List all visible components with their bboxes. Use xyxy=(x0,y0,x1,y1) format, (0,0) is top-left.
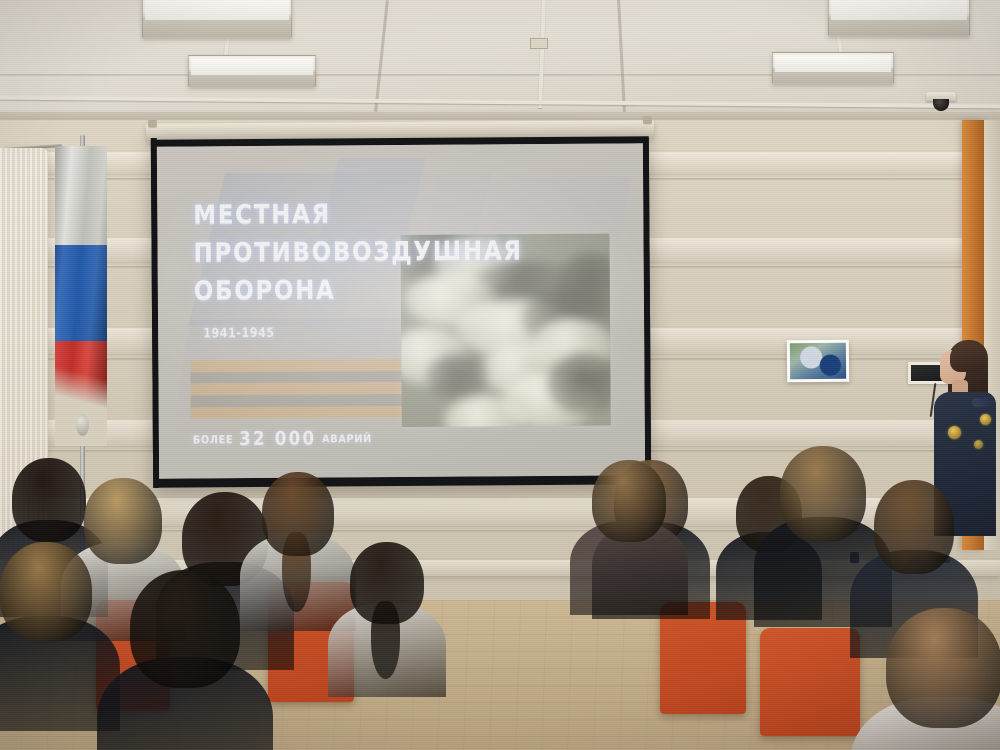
light-lens xyxy=(775,55,891,72)
person-head xyxy=(130,570,240,688)
light-lens xyxy=(191,58,313,75)
presenter-hair-front xyxy=(950,342,984,372)
presenter-shoulder xyxy=(972,398,992,407)
student-front-2 xyxy=(130,570,240,750)
slide-title-line1: МЕСТНАЯ ПРОТИВОВОЗДУШНАЯ xyxy=(194,195,562,273)
student-back-4 xyxy=(262,472,334,646)
smoke-puff xyxy=(426,353,489,400)
slide-title: МЕСТНАЯ ПРОТИВОВОЗДУШНАЯ ОБОРОНА xyxy=(194,195,563,311)
light-lens xyxy=(145,0,289,20)
slide-years: 1941-1945 xyxy=(197,323,281,343)
housing-bracket-right xyxy=(643,116,652,124)
slide-title-line2: ОБОРОНА xyxy=(194,271,562,312)
housing-bracket-left xyxy=(148,120,157,128)
student-front-4 xyxy=(592,460,666,632)
uniform-badge-shoulder xyxy=(980,414,991,425)
smoke-puff xyxy=(548,352,611,414)
ceiling-light-2 xyxy=(188,55,316,87)
student-front-7 xyxy=(886,608,1000,750)
ceiling-conduit xyxy=(538,0,546,108)
classroom-presentation-scene: МЕСТНАЯ ПРОТИВОВОЗДУШНАЯ ОБОРОНА 1941-19… xyxy=(0,0,1000,750)
ceiling-light-1 xyxy=(142,0,292,38)
wall-photo-image xyxy=(790,343,846,379)
ceiling-seam xyxy=(374,0,389,112)
audience xyxy=(0,430,1000,750)
ceiling-seam xyxy=(617,0,626,112)
person-head xyxy=(780,446,866,542)
russian-flag xyxy=(55,146,107,446)
chair-4[interactable] xyxy=(760,628,860,736)
framed-wall-photo xyxy=(787,340,849,383)
student-front-3 xyxy=(350,542,424,714)
person-head xyxy=(84,478,162,564)
person-head xyxy=(0,542,92,642)
person-head xyxy=(350,542,424,624)
person-head xyxy=(592,460,666,542)
person-head xyxy=(874,480,954,574)
conduit-junction-box xyxy=(530,38,548,49)
student-front-1 xyxy=(0,542,92,732)
projection-screen-surface: МЕСТНАЯ ПРОТИВОВОЗДУШНАЯ ОБОРОНА 1941-19… xyxy=(157,143,645,478)
ceiling-light-4 xyxy=(772,52,894,84)
person-head xyxy=(12,458,86,542)
person-head xyxy=(262,472,334,556)
person-head xyxy=(886,608,1000,728)
ceiling-light-3 xyxy=(828,0,970,36)
light-lens xyxy=(831,0,967,20)
ceiling-conduit-horizontal xyxy=(0,96,1000,109)
